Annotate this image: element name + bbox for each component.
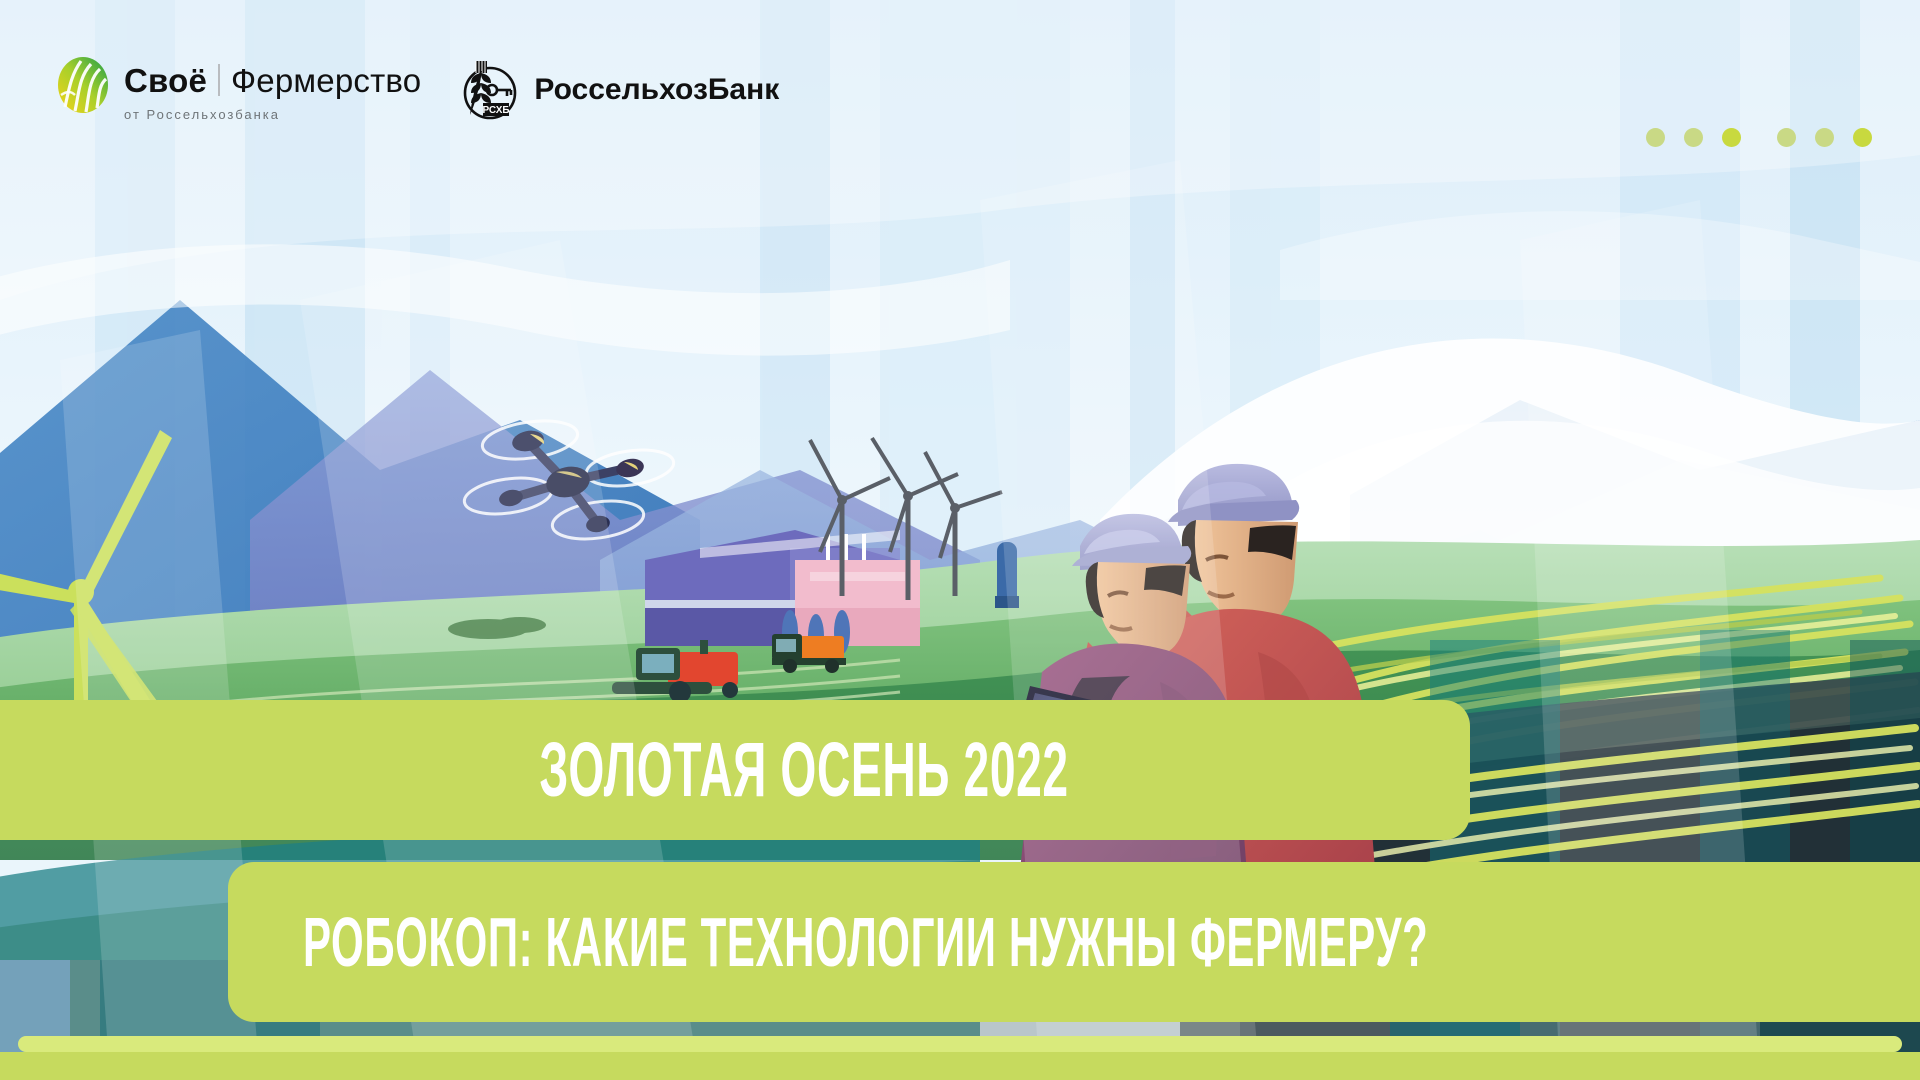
dots-decoration-icon bbox=[1646, 128, 1872, 147]
event-title-banner: ЗОЛОТАЯ ОСЕНЬ 2022 bbox=[0, 700, 1470, 840]
event-subtitle-text: РОБОКОП: КАКИЕ ТЕХНОЛОГИИ НУЖНЫ ФЕРМЕРУ? bbox=[303, 902, 1428, 982]
dot bbox=[1646, 128, 1665, 147]
dot bbox=[1722, 128, 1741, 147]
dot bbox=[1777, 128, 1796, 147]
logo-bar: Своё Фермерство от Россельхозбанка bbox=[55, 55, 779, 122]
brand-rosselkhozbank-title: РоссельхозБанк bbox=[534, 73, 779, 107]
event-subtitle-banner: РОБОКОП: КАКИЕ ТЕХНОЛОГИИ НУЖНЫ ФЕРМЕРУ? bbox=[228, 862, 1920, 1022]
brand-svoe-fermerstvo[interactable]: Своё Фермерство от Россельхозбанка bbox=[55, 55, 421, 122]
brand-word-svoe: Своё bbox=[124, 62, 207, 100]
dot-group-1 bbox=[1646, 128, 1741, 147]
bottom-green-band bbox=[0, 1052, 1920, 1080]
dot bbox=[1853, 128, 1872, 147]
brand-word-fermerstvo: Фермерство bbox=[231, 62, 421, 100]
poster-canvas: Своё Фермерство от Россельхозбанка bbox=[0, 0, 1920, 1080]
event-title-text: ЗОЛОТАЯ ОСЕНЬ 2022 bbox=[539, 726, 1068, 815]
leaf-sphere-icon bbox=[55, 55, 111, 115]
brand-rosselkhozbank[interactable]: РСХБ РоссельхозБанк bbox=[457, 55, 779, 121]
wheat-key-circle-icon: РСХБ bbox=[457, 59, 519, 121]
dot bbox=[1684, 128, 1703, 147]
brand-divider bbox=[218, 64, 220, 96]
dot bbox=[1815, 128, 1834, 147]
brand-subtitle: от Россельхозбанка bbox=[124, 107, 421, 122]
rshb-mark-text: РСХБ bbox=[483, 105, 510, 116]
dot-group-2 bbox=[1777, 128, 1872, 147]
bottom-accent-strip bbox=[18, 1036, 1902, 1052]
